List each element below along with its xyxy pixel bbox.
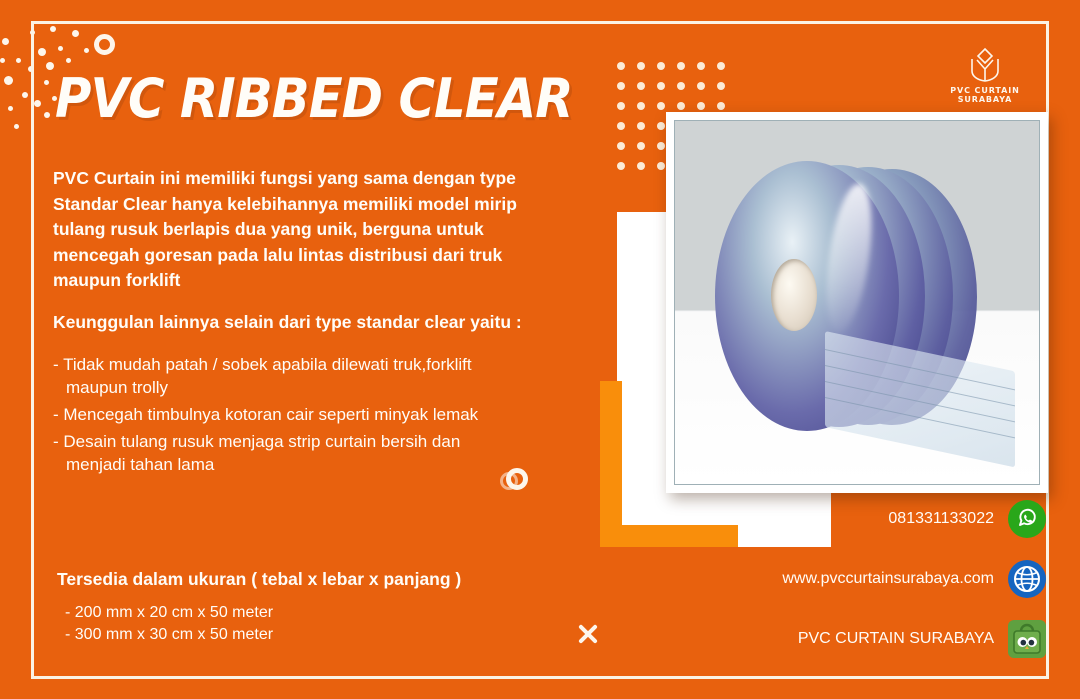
tokopedia-store-name: PVC CURTAIN SURABAYA bbox=[798, 630, 994, 648]
brand-name: PVC CURTAIN SURABAYA bbox=[930, 86, 1040, 104]
whatsapp-number: 081331133022 bbox=[888, 510, 994, 528]
list-item: - Desain tulang rusuk menjaga strip curt… bbox=[53, 430, 523, 476]
whatsapp-icon[interactable] bbox=[1008, 500, 1046, 538]
contact-whatsapp[interactable]: 081331133022 bbox=[716, 500, 1046, 538]
pvc-strip-tail bbox=[825, 331, 1015, 467]
brand-logo: PVC CURTAIN SURABAYA bbox=[930, 47, 1040, 104]
list-item: - Tidak mudah patah / sobek apabila dile… bbox=[53, 353, 523, 399]
product-image bbox=[674, 120, 1040, 485]
advantages-list: - Tidak mudah patah / sobek apabila dile… bbox=[53, 353, 523, 476]
contact-website[interactable]: www.pvccurtainsurabaya.com bbox=[716, 560, 1046, 598]
sizes-block: Tersedia dalam ukuran ( tebal x lebar x … bbox=[53, 569, 523, 646]
page-title: PVC RIBBED CLEAR bbox=[55, 72, 573, 126]
list-item: - Mencegah timbulnya kotoran cair sepert… bbox=[53, 403, 523, 426]
ring-icon bbox=[94, 34, 115, 55]
intro-paragraph: PVC Curtain ini memiliki fungsi yang sam… bbox=[53, 166, 523, 294]
contact-block: 081331133022 www.pvccurtainsurabaya.com bbox=[716, 500, 1046, 680]
list-item: - 200 mm x 20 cm x 50 meter bbox=[65, 602, 523, 624]
tulip-shield-icon bbox=[968, 47, 1002, 83]
website-url: www.pvccurtainsurabaya.com bbox=[782, 570, 994, 588]
sizes-list: - 200 mm x 20 cm x 50 meter - 300 mm x 3… bbox=[53, 602, 523, 646]
poster-canvas: PVC RIBBED CLEAR PVC Curtain ini memilik… bbox=[0, 0, 1080, 699]
globe-icon[interactable] bbox=[1008, 560, 1046, 598]
contact-tokopedia[interactable]: PVC CURTAIN SURABAYA bbox=[716, 620, 1046, 658]
list-item: - 300 mm x 30 cm x 50 meter bbox=[65, 624, 523, 646]
advantages-subhead: Keunggulan lainnya selain dari type stan… bbox=[53, 310, 523, 336]
sizes-title: Tersedia dalam ukuran ( tebal x lebar x … bbox=[57, 569, 523, 590]
description-block: PVC Curtain ini memiliki fungsi yang sam… bbox=[53, 166, 523, 480]
roll-core bbox=[771, 259, 817, 331]
tokopedia-icon[interactable] bbox=[1008, 620, 1046, 658]
product-image-card bbox=[666, 112, 1048, 493]
x-mark-icon bbox=[576, 622, 600, 646]
